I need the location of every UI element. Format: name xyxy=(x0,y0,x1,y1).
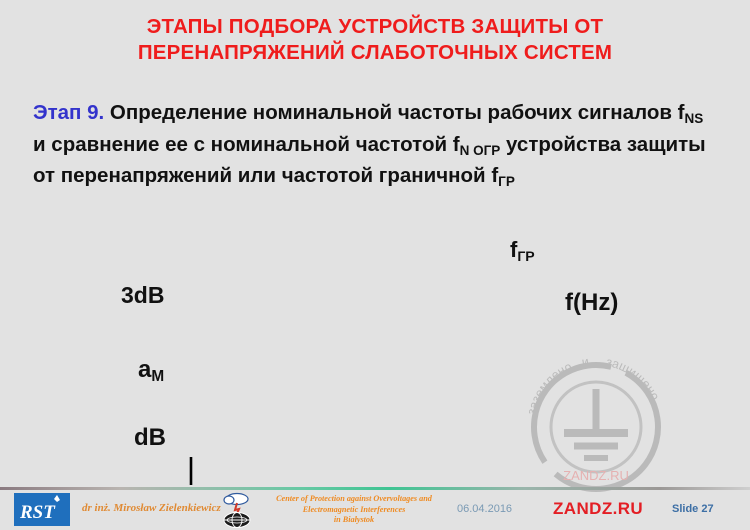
slide-canvas: ЭТАПЫ ПОДБОРА УСТРОЙСТВ ЗАЩИТЫ ОТ ПЕРЕНА… xyxy=(0,0,750,530)
center-logo xyxy=(216,491,258,529)
body-paragraph: Этап 9. Определение номинальной частоты … xyxy=(33,98,723,193)
formula-fns: fNS xyxy=(678,101,704,124)
label-three-db: 3dB xyxy=(121,282,164,309)
label-unit-db: dB xyxy=(134,424,166,452)
label-attenuation: aM xyxy=(138,356,164,384)
page-title-line-1: ЭТАПЫ ПОДБОРА УСТРОЙСТВ ЗАЩИТЫ ОТ xyxy=(0,14,750,40)
label-x-axis: f(Hz) xyxy=(565,289,618,317)
author-name: dr inż. Mirosław Zielenkiewicz xyxy=(82,502,221,514)
page-title: ЭТАПЫ ПОДБОРА УСТРОЙСТВ ЗАЩИТЫ ОТ ПЕРЕНА… xyxy=(0,14,750,66)
slide-number: Slide 27 xyxy=(672,503,714,515)
globe-lightning-icon xyxy=(216,491,258,529)
label-attenuation-sub: M xyxy=(151,368,164,385)
formula-fnogr: fN ОГР xyxy=(453,133,501,156)
body-text-part-2: и сравнение ее с номинальной частотой xyxy=(33,133,447,156)
center-of-protection-name: Center of Protection against Overvoltage… xyxy=(264,494,444,526)
formula-fgr-inline: fГР xyxy=(491,164,515,187)
formula-fnogr-sub: N ОГР xyxy=(460,143,501,158)
footer-brand[interactable]: ZANDZ.RU xyxy=(553,499,643,519)
rst-logo-text: RST xyxy=(19,502,56,523)
center-name-line-2: Electromagnetic Interferences xyxy=(264,505,444,516)
frequency-response-chart xyxy=(0,225,750,485)
formula-fns-sub: NS xyxy=(684,111,703,126)
label-cutoff-frequency: fГР xyxy=(510,237,535,263)
chart-svg xyxy=(0,225,750,485)
stage-label: Этап 9. xyxy=(33,101,104,124)
center-name-line-3: in Białystok xyxy=(264,515,444,526)
center-name-line-1: Center of Protection against Overvoltage… xyxy=(264,494,444,505)
formula-fgr-inline-sub: ГР xyxy=(498,174,515,189)
rst-logo-icon: RST xyxy=(14,493,70,526)
body-text-part-1: Определение номинальной частоты рабочих … xyxy=(110,101,672,124)
label-cutoff-frequency-sub: ГР xyxy=(517,248,534,264)
rst-logo: RST xyxy=(14,493,70,526)
footer-date: 06.04.2016 xyxy=(457,503,512,515)
formula-fnogr-base: f xyxy=(453,133,460,156)
label-attenuation-base: a xyxy=(138,356,151,383)
footer-bar: RST dr inż. Mirosław Zielenkiewicz Cente… xyxy=(0,490,750,530)
page-title-line-2: ПЕРЕНАПРЯЖЕНИЙ СЛАБОТОЧНЫХ СИСТЕМ xyxy=(0,40,750,66)
